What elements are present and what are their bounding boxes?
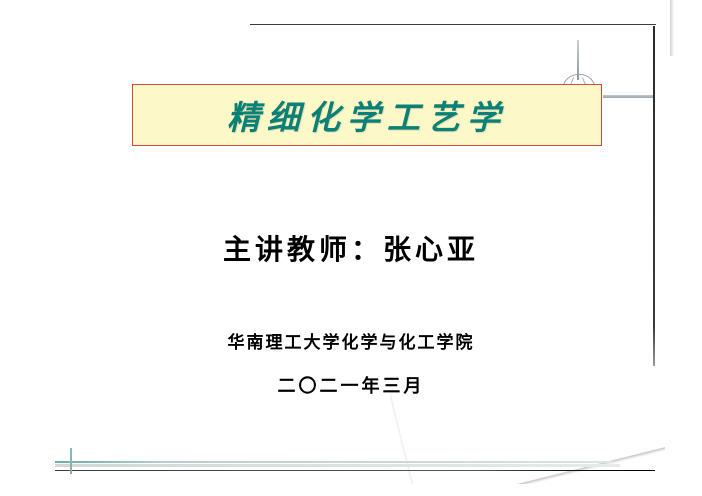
bottom-rule-dark: [55, 470, 655, 471]
sheet-right-edge: [653, 26, 655, 366]
institute-line: 华南理工大学化学与化工学院: [0, 328, 702, 353]
bottom-rule-tick: [70, 448, 72, 474]
title-connector-line: [603, 95, 653, 98]
presenter-line: 主讲教师：张心亚: [0, 228, 702, 268]
sheet-top-rule: [250, 24, 656, 25]
presentation-slide: 精细化学工艺学 主讲教师：张心亚 华南理工大学化学与化工学院 二〇二一年三月: [0, 0, 702, 496]
bottom-rule-gray: [55, 464, 620, 467]
date-line: 二〇二一年三月: [0, 372, 702, 398]
antenna-ornament: [556, 40, 602, 88]
slide-title: 精细化学工艺学: [227, 91, 507, 139]
bottom-rule-teal: [55, 461, 615, 463]
title-box: 精细化学工艺学: [132, 84, 602, 146]
